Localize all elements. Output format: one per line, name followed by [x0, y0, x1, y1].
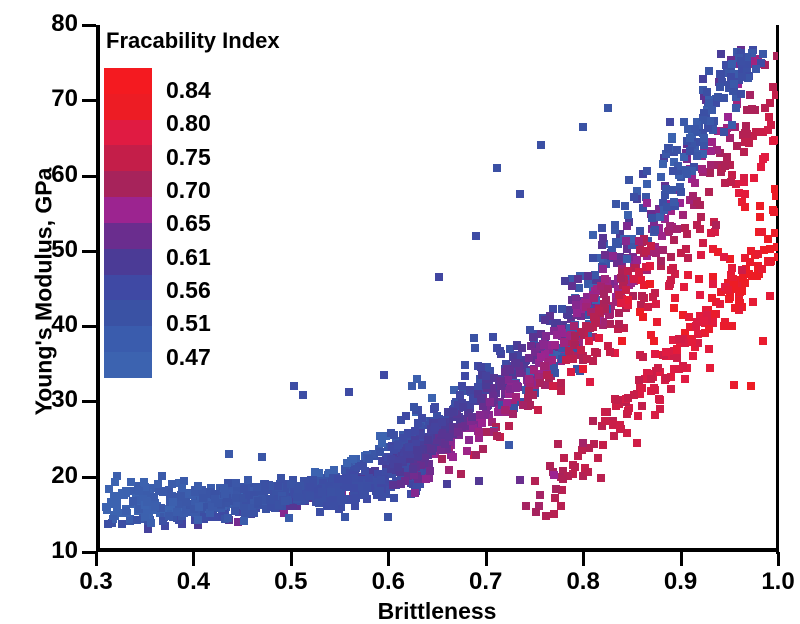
x-tick-mark [192, 552, 195, 566]
x-tick-label: 0.9 [641, 570, 721, 594]
x-axis-title: Brittleness [96, 600, 778, 623]
x-tick-label: 1.0 [738, 570, 800, 594]
legend-value: 0.70 [166, 174, 286, 207]
x-tick-mark [485, 552, 488, 566]
colorbar-band [104, 300, 152, 326]
y-tick-mark [82, 250, 96, 253]
legend-value: 0.47 [166, 341, 286, 374]
legend-value: 0.51 [166, 307, 286, 340]
legend-label-list: 0.840.800.750.700.650.610.560.510.47 [166, 74, 286, 374]
x-tick-mark [582, 552, 585, 566]
y-tick-mark [82, 476, 96, 479]
x-tick-mark [290, 552, 293, 566]
colorbar-band [104, 275, 152, 301]
scatter-chart-figure: 8070605040302010 0.30.40.50.60.70.80.91.… [0, 0, 800, 622]
legend-title: Fracability Index [106, 30, 280, 52]
y-tick-mark [82, 99, 96, 102]
x-tick-label: 0.6 [348, 570, 428, 594]
colorbar [104, 68, 152, 378]
colorbar-band [104, 249, 152, 275]
y-tick-mark [82, 551, 96, 554]
legend-value: 0.61 [166, 241, 286, 274]
y-tick-mark [82, 24, 96, 27]
colorbar-band [104, 145, 152, 171]
right-axis-spine [776, 25, 779, 554]
legend-value: 0.75 [166, 141, 286, 174]
y-tick-label: 80 [18, 12, 78, 36]
y-tick-label: 10 [18, 539, 78, 563]
y-axis-title: Young's Modulus, GPa [33, 82, 56, 502]
x-tick-mark [387, 552, 390, 566]
legend-value: 0.65 [166, 207, 286, 240]
x-tick-label: 0.8 [543, 570, 623, 594]
colorbar-band [104, 326, 152, 352]
colorbar-band [104, 94, 152, 120]
colorbar-band [104, 171, 152, 197]
colorbar-band [104, 120, 152, 146]
colorbar-band [104, 68, 152, 94]
legend: Fracability Index 0.840.800.750.700.650.… [104, 30, 314, 382]
y-tick-mark [82, 325, 96, 328]
y-tick-mark [82, 175, 96, 178]
x-tick-label: 0.5 [251, 570, 331, 594]
x-tick-mark [680, 552, 683, 566]
x-tick-label: 0.4 [153, 570, 233, 594]
y-tick-mark [82, 400, 96, 403]
legend-value: 0.84 [166, 74, 286, 107]
colorbar-band [104, 197, 152, 223]
legend-value: 0.56 [166, 274, 286, 307]
colorbar-band [104, 223, 152, 249]
x-tick-mark [95, 552, 98, 566]
x-tick-mark [777, 552, 780, 566]
legend-value: 0.80 [166, 107, 286, 140]
x-tick-label: 0.7 [446, 570, 526, 594]
x-tick-label: 0.3 [56, 570, 136, 594]
colorbar-band [104, 352, 152, 378]
